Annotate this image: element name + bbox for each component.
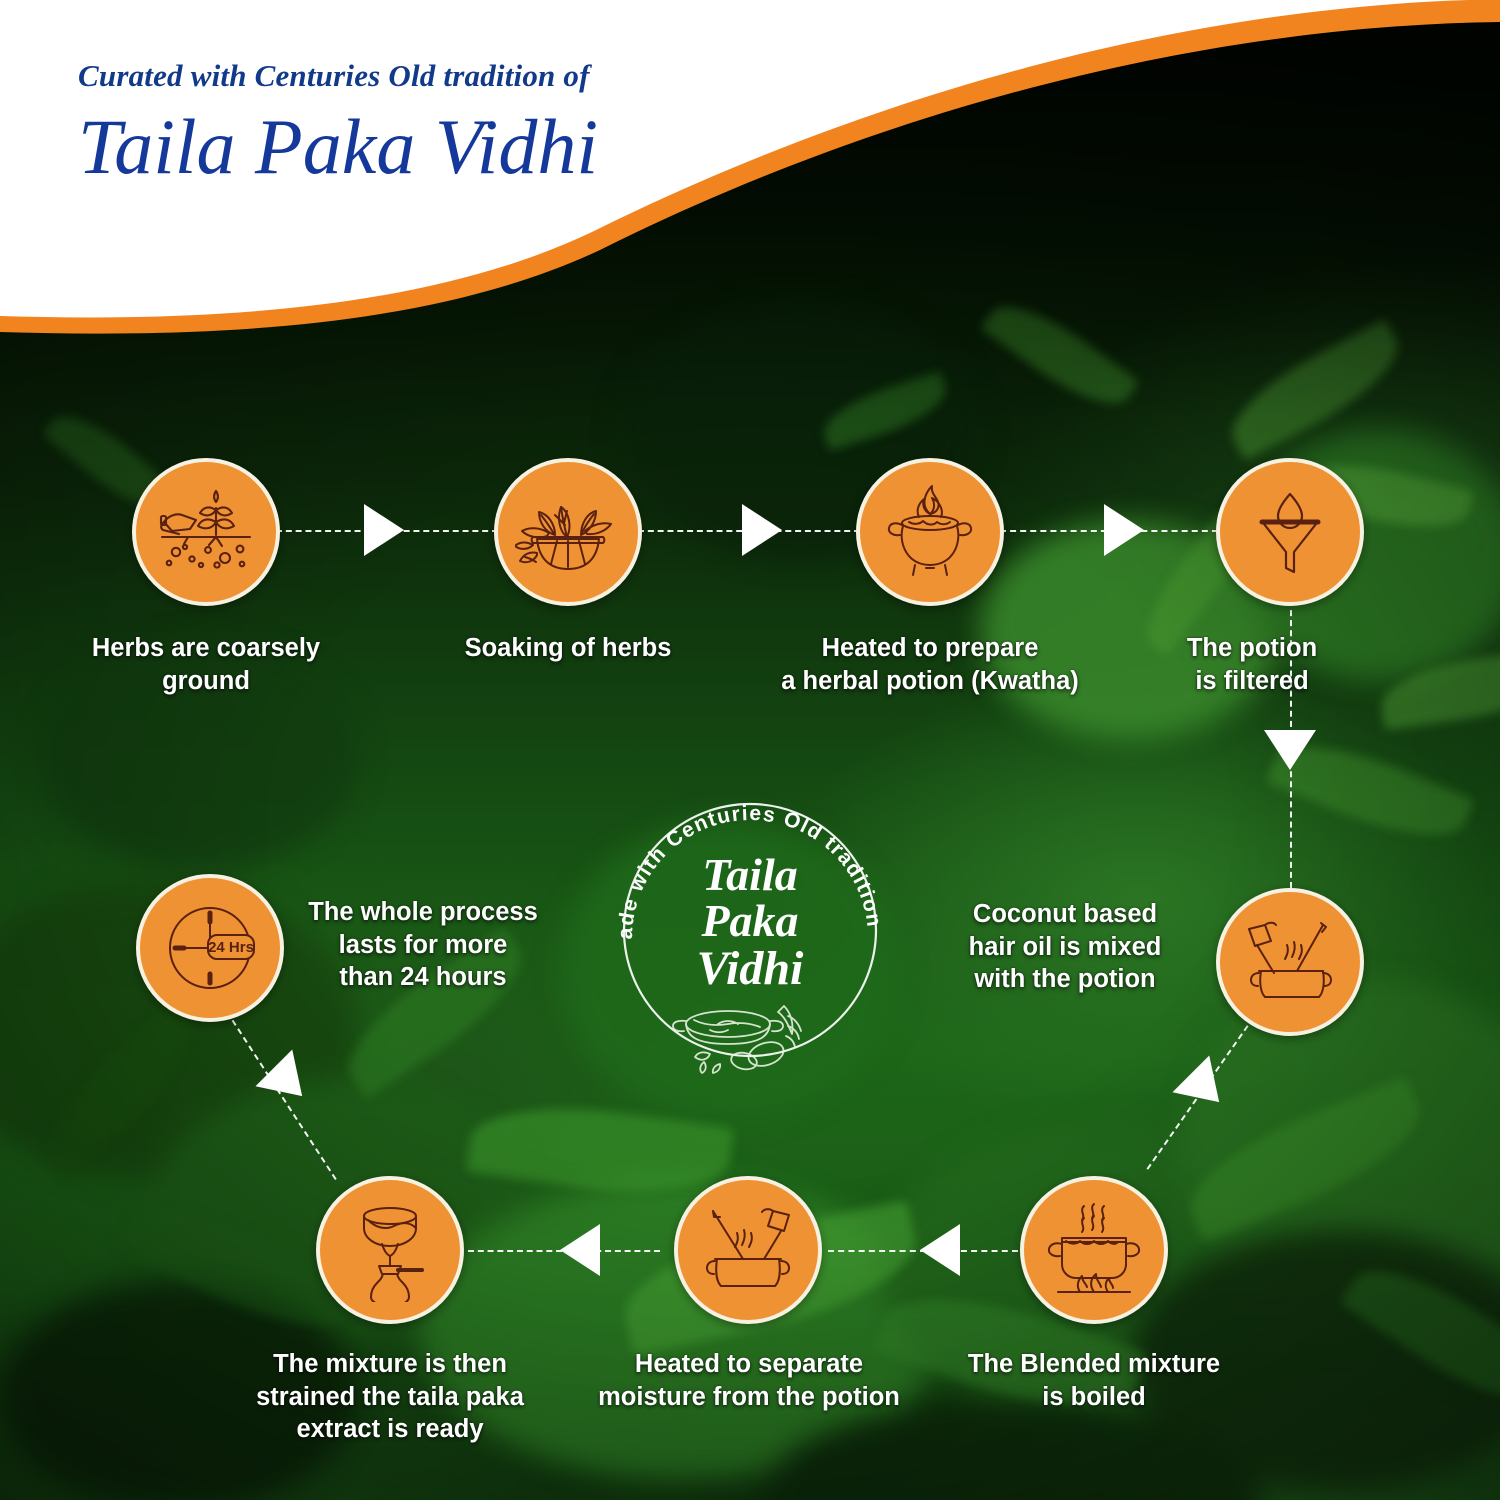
- arrow-left-icon: [560, 1224, 600, 1276]
- pot-with-ladle-steam-icon: [695, 1197, 801, 1303]
- step-9-circle[interactable]: 24 Hrs: [136, 874, 284, 1022]
- step-5-circle[interactable]: [1216, 888, 1364, 1036]
- infographic-canvas: Curated with Centuries Old tradition of …: [0, 0, 1500, 1500]
- step-5-caption: Coconut based hair oil is mixed with the…: [930, 898, 1200, 996]
- step-4-caption: The potion is filtered: [1126, 632, 1378, 697]
- arrow-right-icon: [1104, 504, 1144, 556]
- step-2-circle[interactable]: [494, 458, 642, 606]
- step-6-caption: The Blended mixture is boiled: [934, 1348, 1254, 1413]
- step-1-caption: Herbs are coarsely ground: [26, 632, 386, 697]
- arrow-down-icon: [1264, 730, 1316, 770]
- bowl-of-herbs-icon: [515, 479, 621, 585]
- step-7-circle[interactable]: [674, 1176, 822, 1324]
- step-1-circle[interactable]: [132, 458, 280, 606]
- step-8-circle[interactable]: [316, 1176, 464, 1324]
- header-text-block: Curated with Centuries Old tradition of …: [78, 58, 598, 188]
- arrow-left-icon: [920, 1224, 960, 1276]
- step-8-caption: The mixture is then strained the taila p…: [218, 1348, 562, 1446]
- arrow-right-icon: [742, 504, 782, 556]
- cauldron-with-flame-icon: [878, 480, 982, 584]
- arrow-right-icon: [364, 504, 404, 556]
- badge-line-2: Paka: [700, 895, 798, 946]
- step-7-caption: Heated to separate moisture from the pot…: [566, 1348, 932, 1413]
- step-6-circle[interactable]: [1020, 1176, 1168, 1324]
- funnel-filter-icon: [1240, 482, 1340, 582]
- badge-line-1: Taila: [702, 849, 797, 900]
- clock-24-hours-icon: 24 Hrs: [150, 888, 270, 1008]
- step-4-circle[interactable]: [1216, 458, 1364, 606]
- step-3-caption: Heated to prepare a herbal potion (Kwath…: [746, 632, 1114, 697]
- step-3-circle[interactable]: [856, 458, 1004, 606]
- boiling-pot-on-flame-icon: [1040, 1196, 1148, 1304]
- clock-badge-label: 24 Hrs: [208, 939, 254, 956]
- header-kicker: Curated with Centuries Old tradition of: [78, 58, 598, 94]
- taila-paka-vidhi-badge: Made with Centuries Old tradition of Tai…: [598, 778, 902, 1082]
- page-title: Taila Paka Vidhi: [78, 106, 598, 188]
- hand-grinding-herbs-icon: [154, 480, 258, 584]
- pot-with-oil-pour-icon: [1237, 909, 1343, 1015]
- strainer-into-flask-icon: [338, 1198, 442, 1302]
- step-2-caption: Soaking of herbs: [396, 632, 740, 665]
- badge-line-3: Vidhi: [697, 942, 804, 995]
- header-panel: Curated with Centuries Old tradition of …: [0, 0, 1500, 340]
- step-9-caption: The whole process lasts for more than 24…: [292, 896, 554, 994]
- badge-pot-illustration: [673, 1006, 801, 1073]
